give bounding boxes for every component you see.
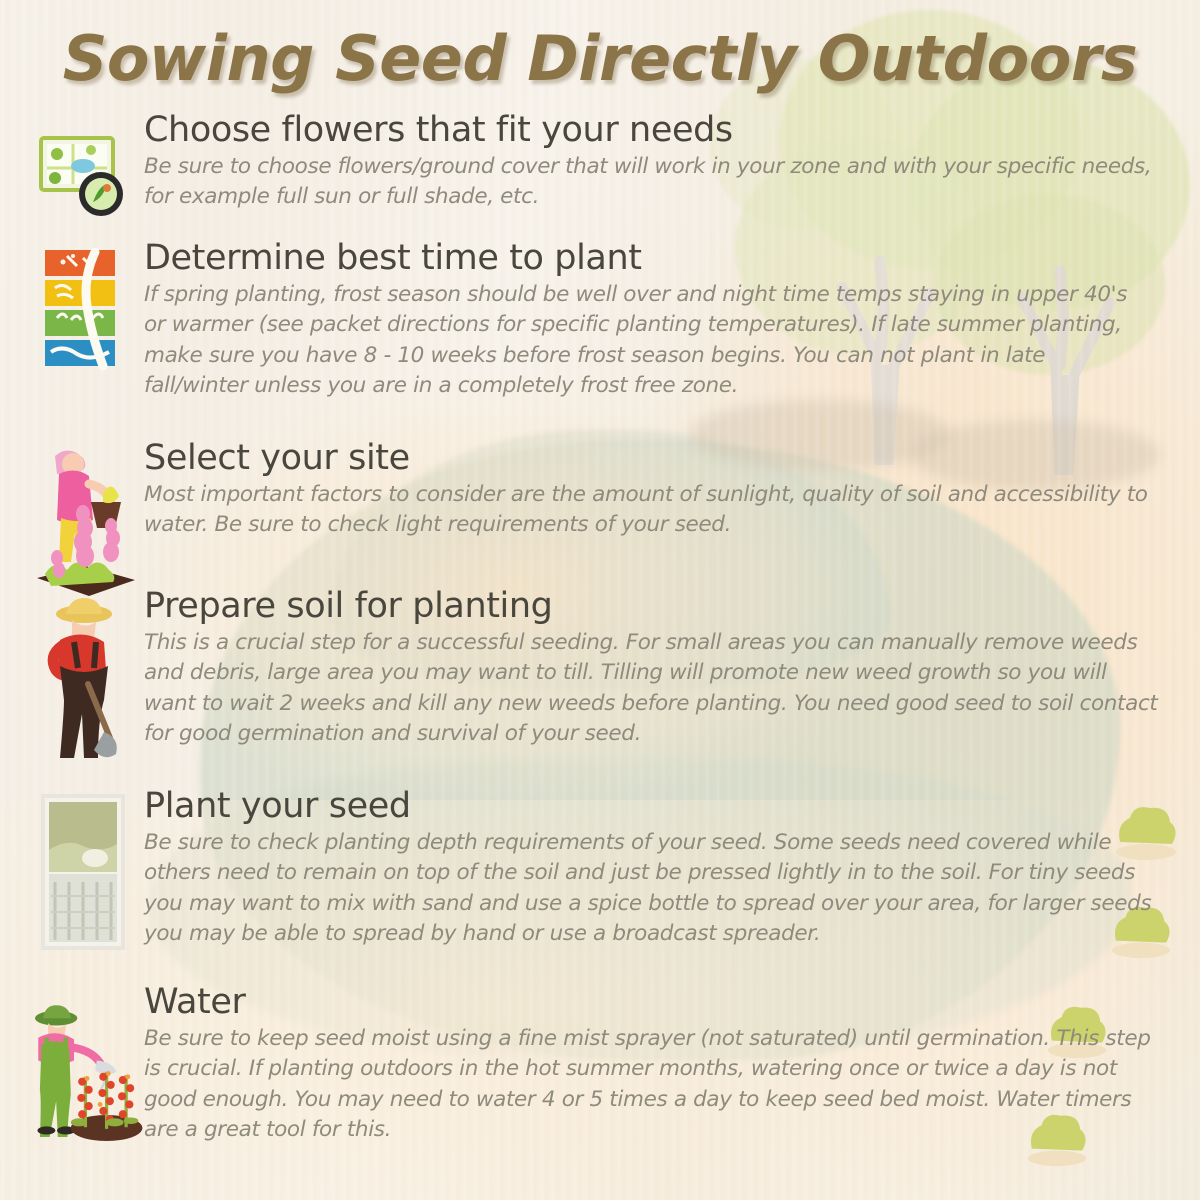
step-text: Plant your seed Be sure to check plantin… bbox=[144, 788, 1200, 950]
step-item: Choose flowers that fit your needs Be su… bbox=[0, 112, 1200, 240]
step-title: Water bbox=[144, 984, 1160, 1022]
step-icon-slot bbox=[22, 984, 144, 1159]
step-icon-slot bbox=[22, 112, 144, 220]
four-seasons-bars-icon bbox=[37, 248, 129, 372]
step-title: Prepare soil for planting bbox=[144, 588, 1160, 626]
page-title: Sowing Seed Directly Outdoors bbox=[0, 22, 1200, 95]
steps-list: Choose flowers that fit your needs Be su… bbox=[0, 112, 1200, 1174]
step-title: Determine best time to plant bbox=[144, 240, 1160, 278]
farmer-digging-shovel-icon bbox=[34, 592, 132, 762]
step-body: Be sure to choose flowers/ground cover t… bbox=[144, 152, 1154, 213]
step-item: Determine best time to plant If spring p… bbox=[0, 240, 1200, 440]
step-title: Plant your seed bbox=[144, 788, 1160, 826]
step-item: Select your site Most important factors … bbox=[0, 440, 1200, 588]
step-icon-slot bbox=[22, 440, 144, 600]
step-title: Select your site bbox=[144, 440, 1160, 478]
step-item: Plant your seed Be sure to check plantin… bbox=[0, 788, 1200, 984]
step-icon-slot bbox=[22, 588, 144, 762]
step-text: Select your site Most important factors … bbox=[144, 440, 1200, 541]
garden-plan-map-icon bbox=[33, 128, 133, 220]
seed-rows-photo-icon bbox=[39, 792, 127, 952]
step-body: If spring planting, frost season should … bbox=[144, 280, 1154, 402]
step-body: Be sure to keep seed moist using a fine … bbox=[144, 1024, 1160, 1146]
step-body: Be sure to check planting depth requirem… bbox=[144, 828, 1160, 950]
poster-title-wrap: Sowing Seed Directly Outdoors bbox=[0, 22, 1200, 95]
step-item: Water Be sure to keep seed moist using a… bbox=[0, 984, 1200, 1174]
gardener-planting-flowers-icon bbox=[31, 440, 135, 600]
step-body: Most important factors to consider are t… bbox=[144, 480, 1154, 541]
step-text: Determine best time to plant If spring p… bbox=[144, 240, 1200, 402]
step-icon-slot bbox=[22, 240, 144, 372]
step-icon-slot bbox=[22, 788, 144, 952]
infographic-poster: Sowing Seed Directly Outdoors bbox=[0, 0, 1200, 1200]
step-title: Choose flowers that fit your needs bbox=[144, 112, 1160, 150]
step-body: This is a crucial step for a successful … bbox=[144, 628, 1160, 750]
step-item: Prepare soil for planting This is a cruc… bbox=[0, 588, 1200, 788]
gardener-watering-icon bbox=[22, 984, 144, 1159]
step-text: Choose flowers that fit your needs Be su… bbox=[144, 112, 1200, 213]
step-text: Water Be sure to keep seed moist using a… bbox=[144, 984, 1200, 1146]
step-text: Prepare soil for planting This is a cruc… bbox=[144, 588, 1200, 750]
